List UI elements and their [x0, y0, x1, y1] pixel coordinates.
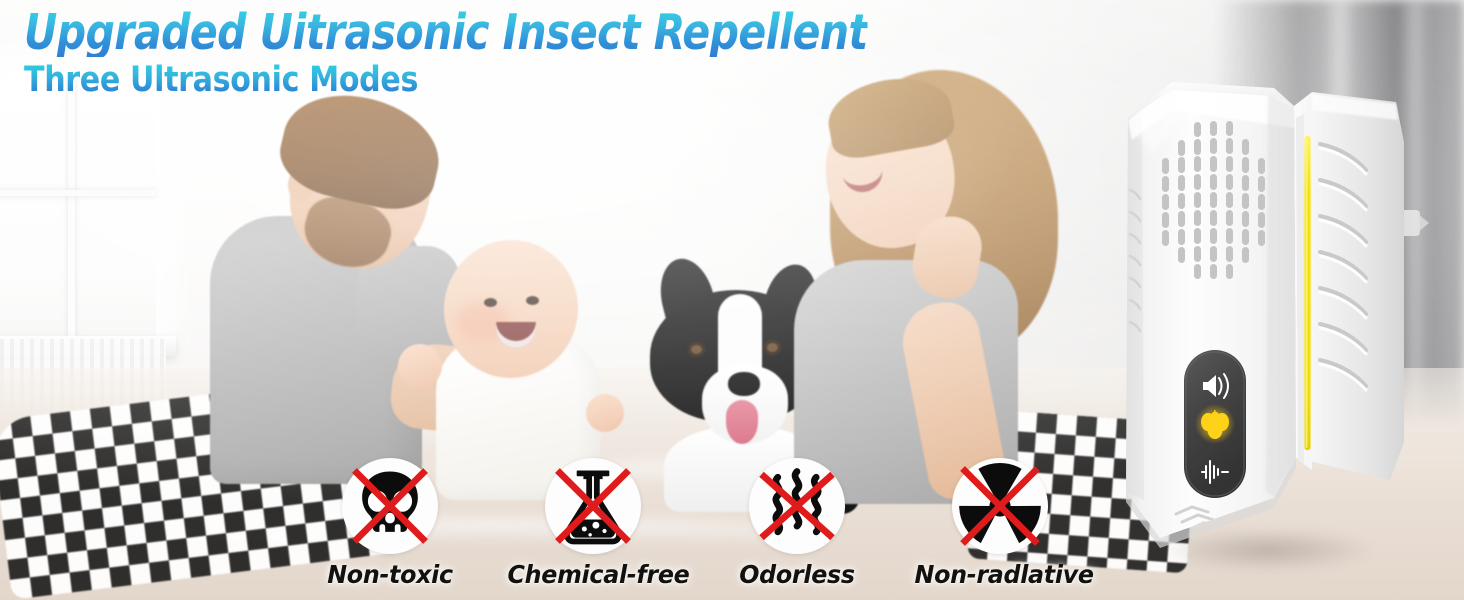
red-cross-icon	[545, 458, 641, 554]
baby-eye-left	[484, 298, 497, 307]
red-cross-icon	[952, 458, 1048, 554]
product-banner: Upgraded Uitrasonic Insect Repellent Thr…	[0, 0, 1464, 600]
bug-nightlight-icon[interactable]	[1195, 404, 1235, 444]
mode-control-panel	[1184, 350, 1246, 498]
badge-circle	[749, 458, 845, 554]
feature-label: Non-radlative	[914, 560, 1085, 589]
badge-circle	[545, 458, 641, 554]
feature-label: Chemical-free	[508, 560, 679, 589]
ultrasonic-repeller-device	[1098, 62, 1438, 582]
headline-secondary: Three Ultrasonic Modes	[24, 63, 804, 98]
feature-chemical-free: Chemical-free	[503, 458, 683, 589]
red-cross-icon	[749, 458, 845, 554]
feature-odorless: Odorless	[707, 458, 887, 589]
dog-tongue	[726, 400, 758, 444]
headline-primary: Upgraded Uitrasonic Insect Repellent	[24, 8, 868, 57]
dog-eye-right	[764, 340, 781, 355]
led-strip	[1304, 134, 1311, 452]
dog-nose	[728, 372, 760, 396]
feature-label: Non-toxic	[305, 560, 476, 589]
headline-block: Upgraded Uitrasonic Insect Repellent Thr…	[24, 8, 931, 98]
feature-badges: Non-toxic Chemical-free	[300, 458, 1090, 592]
badge-circle	[952, 458, 1048, 554]
device-side-panel	[1294, 92, 1404, 480]
feature-non-radiative: Non-radlative	[910, 458, 1090, 589]
person-mother	[788, 64, 1108, 494]
red-cross-icon	[342, 458, 438, 554]
baby-hand-left	[398, 344, 442, 388]
feature-non-toxic: Non-toxic	[300, 458, 480, 589]
baby-eye-right	[526, 296, 539, 305]
baby-hand-right	[586, 394, 624, 432]
dog-eye-left	[688, 342, 705, 357]
feature-label: Odorless	[711, 560, 882, 589]
badge-circle	[342, 458, 438, 554]
